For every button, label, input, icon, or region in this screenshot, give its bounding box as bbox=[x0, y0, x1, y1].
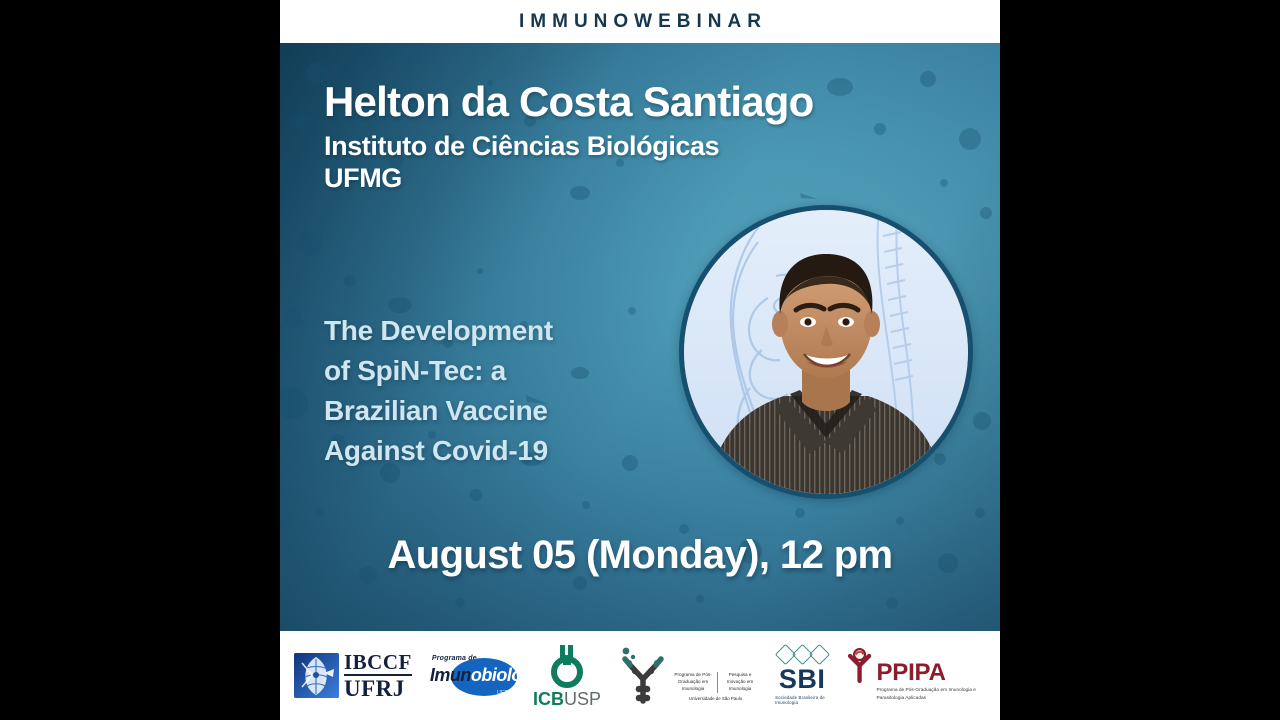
letterbox-left bbox=[0, 0, 280, 720]
page-title: IMMUNOWEBINAR bbox=[513, 11, 767, 33]
ppipa-logo: PPIPA Programa de Pós-Graduação em Imuno… bbox=[845, 648, 986, 703]
speaker-affiliation-line-1: Instituto de Ciências Biológicas bbox=[324, 130, 984, 162]
imunobiologia-word-part2: biologia bbox=[481, 665, 546, 685]
usp-caption-left: Programa de Pós-Graduação em Imunologia bbox=[672, 672, 714, 693]
icb-usp-mark-icon bbox=[544, 642, 590, 688]
speaker-affiliation-line-2: UFMG bbox=[324, 162, 984, 194]
ppipa-mark-icon bbox=[845, 648, 874, 696]
usp-label: USP bbox=[564, 689, 601, 709]
speaker-portrait-image bbox=[684, 210, 968, 494]
icb-usp-wordmark: ICBUSP bbox=[533, 690, 601, 709]
sponsor-logos-footer: IBCCF UFRJ Programa de Imunobiologia UFR… bbox=[280, 631, 1000, 720]
talk-title-line-1: The Development bbox=[324, 311, 684, 351]
antibody-icon bbox=[617, 645, 669, 707]
sbi-logo: SBI Sociedade Brasileira de Imunologia bbox=[775, 647, 829, 705]
event-date-time: August 05 (Monday), 12 pm bbox=[280, 533, 1000, 578]
webinar-poster: IMMUNOWEBINAR bbox=[280, 0, 1000, 720]
imunobiologia-sub-label: UFRJ bbox=[497, 690, 511, 696]
usp-imunologia-ppg-logo: Programa de Pós-Graduação em Imunologia … bbox=[617, 645, 759, 707]
sbi-wordmark: SBI bbox=[779, 666, 826, 693]
icb-label: ICB bbox=[533, 689, 564, 709]
screenshot-stage: IMMUNOWEBINAR bbox=[0, 0, 1280, 720]
ibccf-label: IBCCF bbox=[344, 652, 412, 676]
ufrj-label: UFRJ bbox=[344, 677, 412, 700]
ibccf-ufrj-logo: IBCCF UFRJ bbox=[294, 652, 412, 700]
poster-main-panel: Helton da Costa Santiago Instituto de Ci… bbox=[280, 43, 1000, 631]
talk-title: The Development of SpiN-Tec: a Brazilian… bbox=[324, 311, 684, 471]
letterbox-right bbox=[1000, 0, 1280, 720]
ibccf-emblem-icon bbox=[294, 653, 339, 698]
speaker-block: Helton da Costa Santiago Instituto de Ci… bbox=[324, 80, 984, 194]
talk-title-line-3: Brazilian Vaccine bbox=[324, 391, 684, 431]
usp-university-label: Universidade de São Paulo bbox=[672, 696, 759, 701]
imunobiologia-word-part1: Imun bbox=[430, 665, 471, 685]
speaker-affiliation: Instituto de Ciências Biológicas UFMG bbox=[324, 130, 984, 195]
talk-title-line-2: of SpiN-Tec: a bbox=[324, 351, 684, 391]
ppipa-sub-label: Programa de Pós-Graduação em Imunologia … bbox=[876, 687, 986, 703]
speaker-photo bbox=[679, 205, 973, 499]
usp-caption-right: Pesquisa e Inovação em Imunologia bbox=[717, 672, 759, 693]
imunobiologia-logo: Programa de Imunobiologia UFRJ bbox=[428, 653, 517, 699]
speaker-name: Helton da Costa Santiago bbox=[324, 80, 984, 124]
imunobiologia-wordmark: Imunobiologia bbox=[430, 665, 547, 686]
talk-title-line-4: Against Covid-19 bbox=[324, 431, 684, 471]
sbi-sub-label: Sociedade Brasileira de Imunologia bbox=[775, 695, 829, 705]
poster-header: IMMUNOWEBINAR bbox=[280, 0, 1000, 43]
ppipa-wordmark: PPIPA bbox=[876, 661, 986, 685]
sbi-diamonds-icon bbox=[778, 647, 827, 662]
imunobiologia-word-dot: o bbox=[471, 665, 482, 685]
